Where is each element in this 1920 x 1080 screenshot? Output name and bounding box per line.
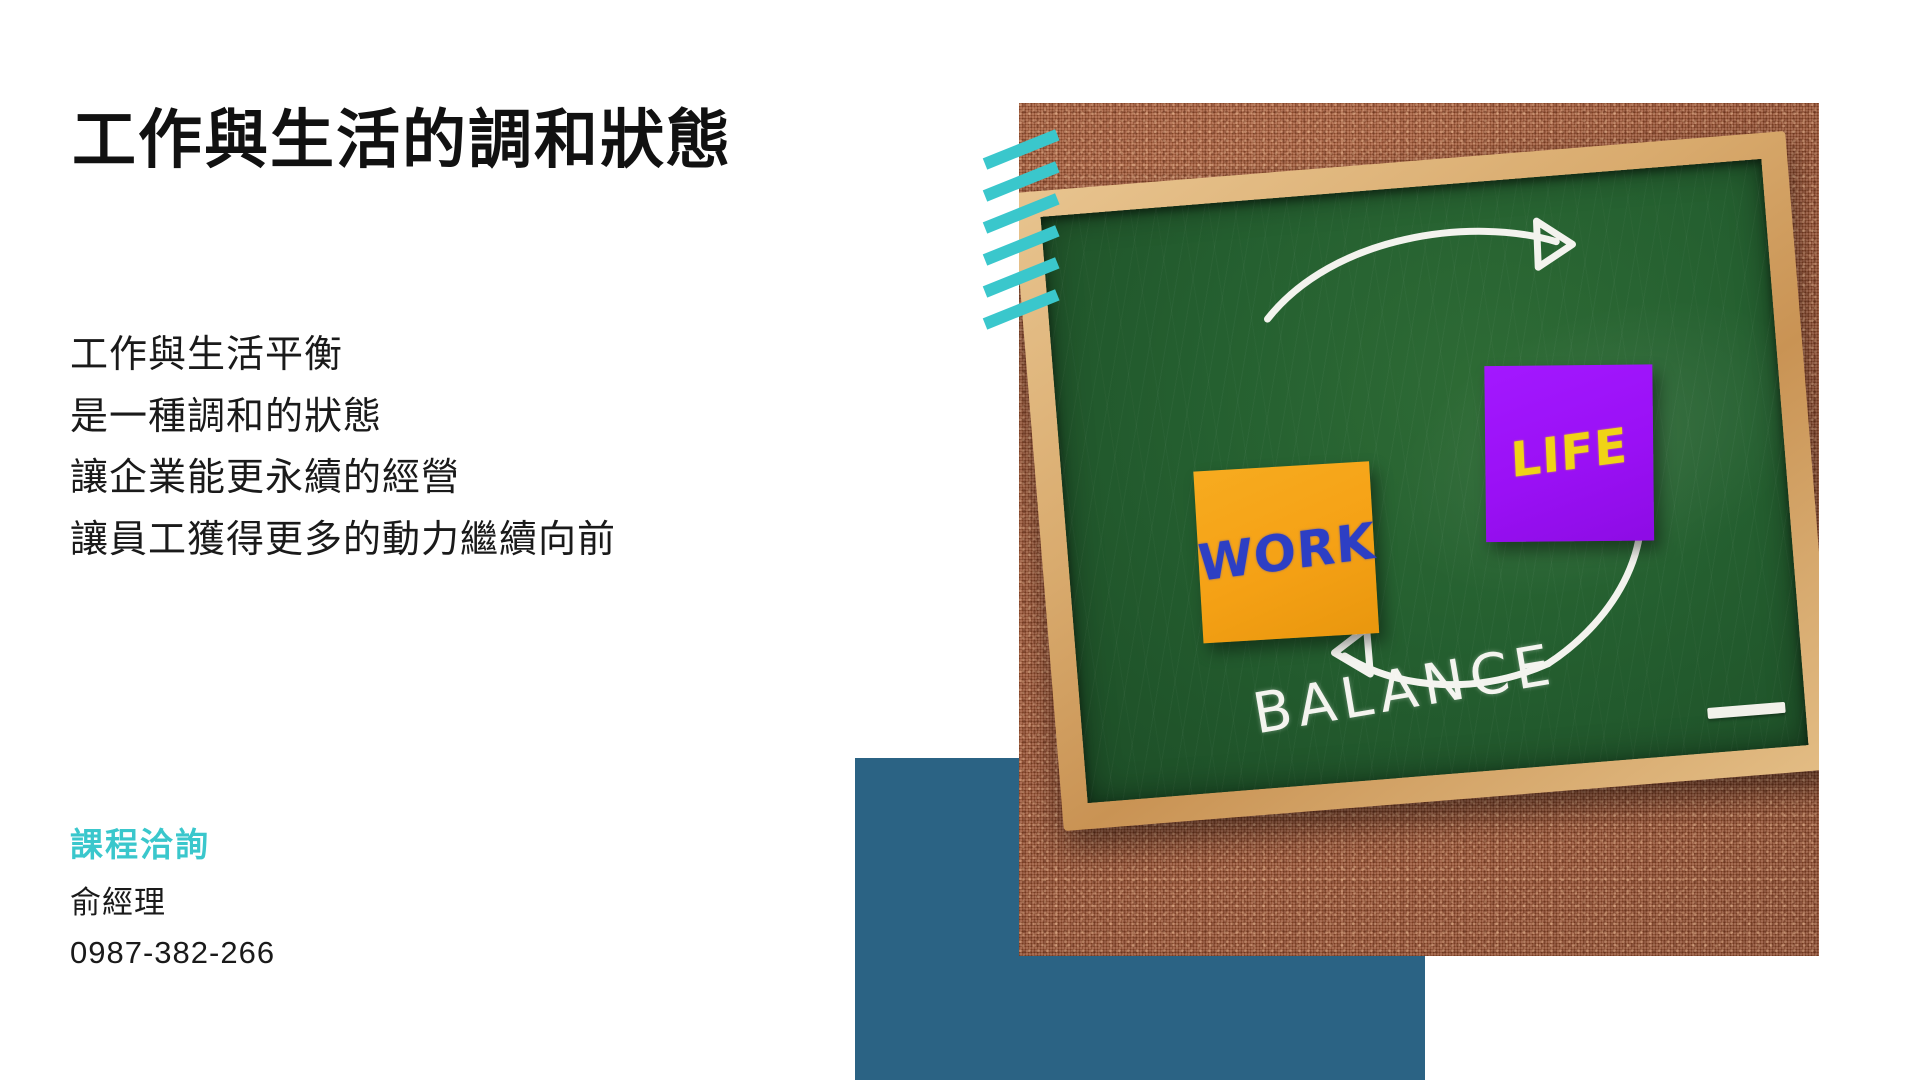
sticky-note-work: WORK xyxy=(1193,461,1379,643)
slide-canvas: WORK LIFE BALANCE 工作與生活的調和狀態 工作與生活平衡 是一種… xyxy=(0,0,1920,1080)
contact-phone[interactable]: 0987-382-266 xyxy=(70,928,275,978)
contact-block: 課程洽詢 俞經理 0987-382-266 xyxy=(70,818,275,978)
teal-stripes-decoration xyxy=(985,148,1075,338)
body-text-block: 工作與生活平衡 是一種調和的狀態 讓企業能更永續的經營 讓員工獲得更多的動力繼續… xyxy=(70,325,616,571)
sticky-note-work-label: WORK xyxy=(1196,512,1377,593)
chalkboard-photo: WORK LIFE BALANCE xyxy=(1019,103,1819,956)
stripe-6 xyxy=(983,289,1060,329)
body-line-2: 是一種調和的狀態 xyxy=(70,387,616,449)
chalkboard: WORK LIFE BALANCE xyxy=(1019,131,1819,831)
contact-heading: 課程洽詢 xyxy=(70,818,275,866)
page-title: 工作與生活的調和狀態 xyxy=(72,104,732,178)
sticky-note-life: LIFE xyxy=(1484,364,1654,542)
chalkboard-wood-frame: WORK LIFE BALANCE xyxy=(1019,131,1819,831)
body-line-3: 讓企業能更永續的經營 xyxy=(70,448,616,510)
contact-name: 俞經理 xyxy=(70,878,275,928)
sticky-note-life-label: LIFE xyxy=(1509,417,1629,489)
chalkboard-surface: WORK LIFE BALANCE xyxy=(1041,159,1809,803)
body-line-1: 工作與生活平衡 xyxy=(70,325,616,387)
body-line-4: 讓員工獲得更多的動力繼續向前 xyxy=(70,510,616,572)
